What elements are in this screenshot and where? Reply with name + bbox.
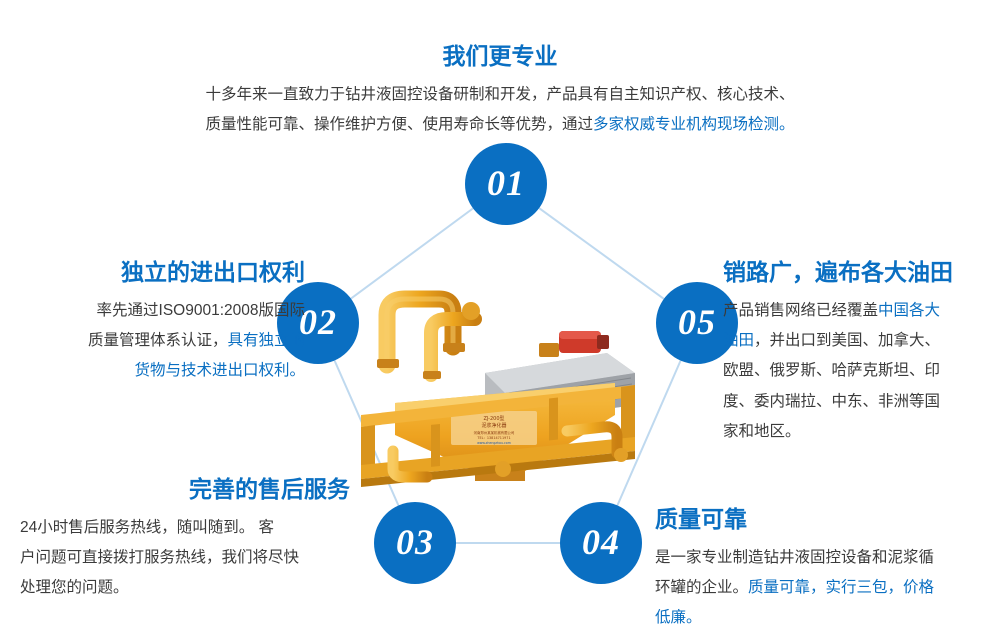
badge-01[interactable]: 01 <box>465 143 547 225</box>
feature-text-after-sales-line3: 处理您的问题。 <box>20 579 129 596</box>
feature-heading-professional: 我们更专业 <box>150 42 850 72</box>
infographic-page: ZJ-200型 泥浆净化器 河南郑州某某机械有限公司 TEL：138147119… <box>0 0 1000 642</box>
svg-text:TEL：13814711971: TEL：13814711971 <box>476 436 510 440</box>
feature-text-quality: 是一家专业制造钻井液固控设备和泥浆循 环罐的企业。质量可靠，实行三包，价格 低廉… <box>655 543 985 634</box>
feature-text-quality-highlight2: 低廉。 <box>655 609 702 626</box>
feature-text-after-sales-line2: 户问题可直接拨打服务热线，我们将尽快 <box>20 549 299 566</box>
piping-group <box>377 299 480 379</box>
feature-text-market-reach-highlight2: 油田 <box>723 332 754 349</box>
feature-text-professional-highlight: 多家权威专业机构现场检测。 <box>593 116 795 133</box>
feature-text-professional-line2a: 质量性能可靠、操作维护方便、使用寿命长等优势，通过 <box>205 116 593 133</box>
feature-heading-after-sales: 完善的售后服务 <box>20 475 350 505</box>
feature-text-market-reach-line5: 家和地区。 <box>723 423 801 440</box>
feature-text-market-reach: 产品销售网络已经覆盖中国各大 油田，并出口到美国、加拿大、 欧盟、俄罗斯、哈萨克… <box>723 296 988 447</box>
feature-heading-import-export: 独立的进出口权利 <box>20 258 305 288</box>
feature-text-after-sales: 24小时售后服务热线，随叫随到。 客 户问题可直接拨打服务热线，我们将尽快 处理… <box>20 513 350 604</box>
feature-text-import-export-line2a: 质量管理体系认证， <box>88 332 228 349</box>
feature-heading-market-reach: 销路广，遍布各大油田 <box>723 258 988 288</box>
badge-03-label: 03 <box>396 521 434 563</box>
feature-text-professional: 十多年来一直致力于钻井液固控设备研制和开发，产品具有自主知识产权、核心技术、 质… <box>150 80 850 140</box>
feature-text-after-sales-line1: 24小时售后服务热线，随叫随到。 客 <box>20 519 274 536</box>
feature-text-import-export-highlight2: 货物与技术进出口权利。 <box>134 362 305 379</box>
svg-text:泥浆净化器: 泥浆净化器 <box>481 422 506 429</box>
feature-text-import-export: 率先通过ISO9001:2008版国际 质量管理体系认证，具有独立的 货物与技术… <box>20 296 305 387</box>
badge-04[interactable]: 04 <box>560 502 642 584</box>
feature-block-professional: 我们更专业 十多年来一直致力于钻井液固控设备研制和开发，产品具有自主知识产权、核… <box>150 42 850 140</box>
feature-text-quality-line1: 是一家专业制造钻井液固控设备和泥浆循 <box>655 549 934 566</box>
feature-text-quality-highlight1: 质量可靠，实行三包，价格 <box>748 579 934 596</box>
svg-text:ZJ-200型: ZJ-200型 <box>483 415 504 422</box>
feature-block-market-reach: 销路广，遍布各大油田 产品销售网络已经覆盖中国各大 油田，并出口到美国、加拿大、… <box>723 258 988 447</box>
svg-text:www.zhengzhou.com: www.zhengzhou.com <box>477 441 511 445</box>
badge-01-label: 01 <box>487 162 525 204</box>
feature-heading-quality: 质量可靠 <box>655 505 985 535</box>
feature-text-market-reach-highlight1: 中国各大 <box>878 302 940 319</box>
drilling-mud-equipment-illustration: ZJ-200型 泥浆净化器 河南郑州某某机械有限公司 TEL：138147119… <box>335 255 665 495</box>
badge-03[interactable]: 03 <box>374 502 456 584</box>
feature-block-after-sales: 完善的售后服务 24小时售后服务热线，随叫随到。 客 户问题可直接拨打服务热线，… <box>20 475 350 604</box>
svg-text:河南郑州某某机械有限公司: 河南郑州某某机械有限公司 <box>474 430 515 435</box>
feature-text-market-reach-line4: 度、委内瑞拉、中东、非洲等国 <box>723 393 940 410</box>
feature-text-quality-line2a: 环罐的企业。 <box>655 579 748 596</box>
badge-05-label: 05 <box>678 301 716 343</box>
feature-text-market-reach-line3: 欧盟、俄罗斯、哈萨克斯坦、印 <box>723 362 940 379</box>
feature-text-professional-line1: 十多年来一直致力于钻井液固控设备研制和开发，产品具有自主知识产权、核心技术、 <box>205 86 794 103</box>
feature-text-import-export-highlight1: 具有独立的 <box>227 332 305 349</box>
feature-text-import-export-line1: 率先通过ISO9001:2008版国际 <box>97 302 305 319</box>
feature-block-quality: 质量可靠 是一家专业制造钻井液固控设备和泥浆循 环罐的企业。质量可靠，实行三包，… <box>655 505 985 634</box>
feature-block-import-export: 独立的进出口权利 率先通过ISO9001:2008版国际 质量管理体系认证，具有… <box>20 258 305 387</box>
feature-text-market-reach-line1a: 产品销售网络已经覆盖 <box>723 302 878 319</box>
feature-text-market-reach-line2b: ，并出口到美国、加拿大、 <box>754 332 940 349</box>
badge-04-label: 04 <box>582 521 620 563</box>
